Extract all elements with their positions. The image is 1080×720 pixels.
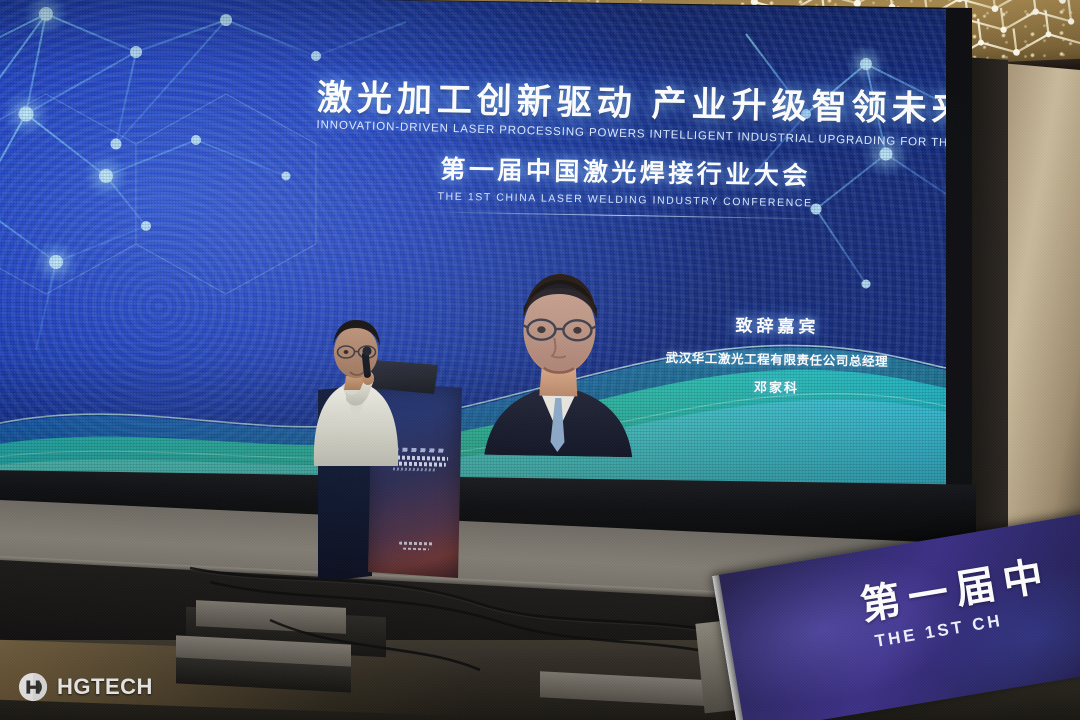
- presenter-at-podium: [306, 316, 404, 466]
- podium-foot-mark: [394, 541, 438, 550]
- watermark: HGTECH: [18, 672, 153, 702]
- speaker-role-label: 致辞嘉宾: [636, 310, 918, 340]
- conference-stage-scene: 激光加工创新驱动 产业升级智领未来 INNOVATION-DRIVEN LASE…: [0, 0, 1080, 720]
- hgtech-logo-icon: [18, 672, 48, 702]
- speaker-company-title: 武汉华工激光工程有限责任公司总经理: [636, 347, 918, 371]
- podium-fineprint-strip: [393, 467, 437, 471]
- led-screen: 激光加工创新驱动 产业升级智领未来 INNOVATION-DRIVEN LASE…: [0, 0, 946, 498]
- screen-text-block: 激光加工创新驱动 产业升级智领未来 INNOVATION-DRIVEN LASE…: [315, 80, 937, 221]
- avatar: [476, 255, 641, 458]
- event-subtitle: 第一届中国激光焊接行业大会: [315, 147, 936, 194]
- screen-vignette: [0, 0, 946, 498]
- podium-foot-line-1: [399, 542, 433, 545]
- speaker-info-panel: 致辞嘉宾 武汉华工激光工程有限责任公司总经理 邓家科: [635, 310, 918, 399]
- watermark-brand-text: HGTECH: [57, 674, 153, 700]
- led-screen-frame: 激光加工创新驱动 产业升级智领未来 INNOVATION-DRIVEN LASE…: [0, 0, 972, 514]
